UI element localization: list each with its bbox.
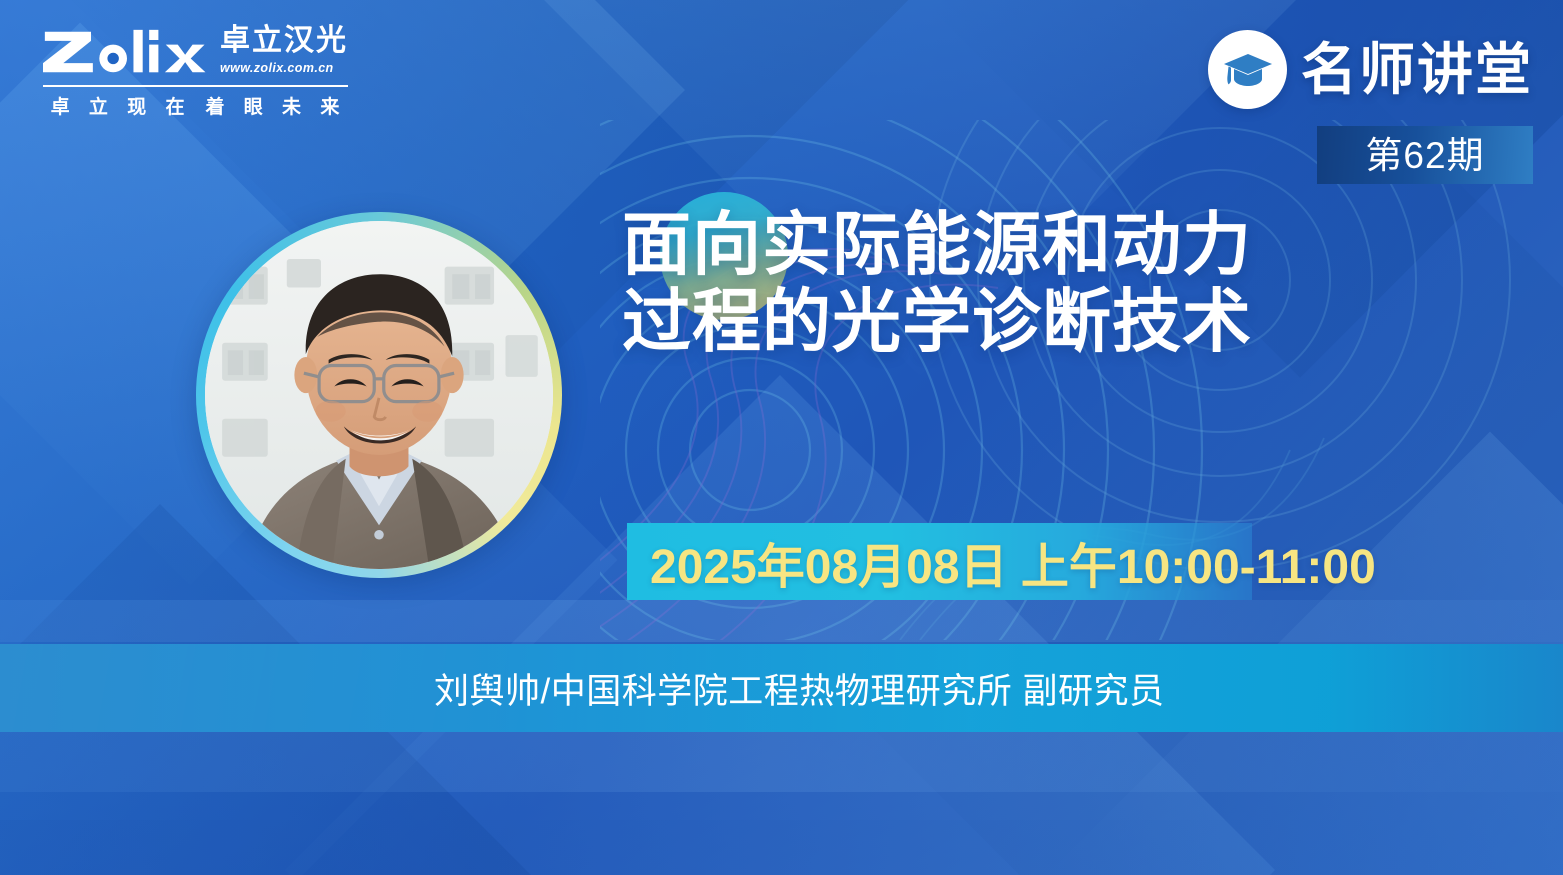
zolix-wordmark-icon bbox=[43, 26, 211, 78]
speaker-portrait-ring bbox=[196, 212, 562, 578]
lecture-title: 面向实际能源和动力 过程的光学诊断技术 bbox=[622, 206, 1362, 361]
speaker-name-affiliation: 刘舆帅/中国科学院工程热物理研究所 副研究员 bbox=[0, 644, 1563, 732]
bg-sheen-band bbox=[0, 732, 1563, 792]
issue-label: 第62期 bbox=[1365, 137, 1484, 174]
logo-divider bbox=[43, 85, 348, 87]
series-title: 名师讲堂 bbox=[1301, 42, 1533, 98]
series-brand: 名师讲堂 第62期 bbox=[1208, 30, 1533, 184]
title-line-1: 面向实际能源和动力 bbox=[622, 206, 1362, 283]
lecture-poster: 卓立汉光 www.zolix.com.cn 卓 立 现 在着 眼 未 来 名师讲… bbox=[0, 0, 1563, 875]
tagline-right: 着 眼 未 来 bbox=[206, 97, 347, 118]
tagline-left: 卓 立 现 在 bbox=[51, 97, 192, 118]
issue-badge: 第62期 bbox=[1317, 126, 1533, 184]
logo-chinese-name: 卓立汉光 bbox=[220, 26, 348, 56]
company-logo: 卓立汉光 www.zolix.com.cn 卓 立 现 在着 眼 未 来 bbox=[43, 26, 348, 119]
logo-website-url: www.zolix.com.cn bbox=[220, 59, 348, 78]
lecture-datetime: 2025年08月08日 上午10:00-11:00 bbox=[650, 523, 1376, 600]
graduation-cap-icon bbox=[1208, 30, 1287, 109]
speaker-avatar bbox=[205, 221, 553, 569]
logo-tagline: 卓 立 现 在着 眼 未 来 bbox=[43, 92, 348, 119]
title-line-2: 过程的光学诊断技术 bbox=[622, 283, 1362, 360]
bg-sheen-band bbox=[0, 820, 1563, 875]
